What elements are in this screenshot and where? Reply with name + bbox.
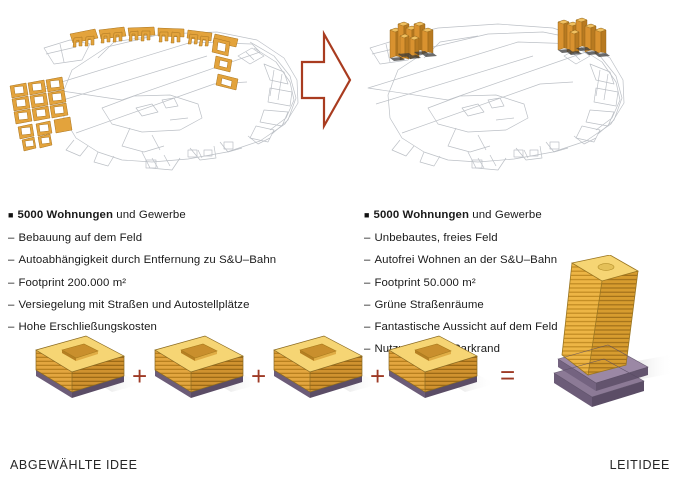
operator-plus-3: +	[370, 363, 385, 389]
slab-block-2	[155, 336, 261, 398]
bullet-marker-dash: –	[8, 231, 14, 245]
list-item: ■ 5000 Wohnungen und Gewerbe	[364, 208, 664, 223]
bullet-text: Bebauung auf dem Feld	[18, 231, 142, 245]
bullet-text: Versiegelung mit Straßen und Autostellpl…	[18, 298, 249, 312]
aerial-plan-left	[2, 0, 332, 195]
footer-label-left: ABGEWÄHLTE IDEE	[10, 458, 138, 472]
bullet-text: 5000 Wohnungen und Gewerbe	[374, 208, 542, 222]
presentation-slide: ■ 5000 Wohnungen und Gewerbe – Bebauung …	[0, 0, 680, 498]
operator-equals: =	[500, 362, 515, 388]
bullet-text: Footprint 50.000 m²	[374, 276, 475, 290]
list-item: ■ 5000 Wohnungen und Gewerbe	[8, 208, 328, 223]
tower-block-result	[548, 255, 680, 425]
bullet-marker-dash: –	[8, 298, 14, 312]
operator-plus-1: +	[132, 363, 147, 389]
list-item: – Versiegelung mit Straßen und Autostell…	[8, 298, 328, 312]
bullet-list-left: ■ 5000 Wohnungen und Gewerbe – Bebauung …	[8, 208, 328, 342]
slab-block-4	[389, 336, 495, 398]
bullet-text: Unbebautes, freies Feld	[374, 231, 497, 245]
list-item: – Footprint 200.000 m²	[8, 276, 328, 290]
bullet-text: Grüne Straßenräume	[374, 298, 483, 312]
bullet-marker-dash: –	[364, 298, 370, 312]
bullet-text: Autoabhängigkeit durch Entfernung zu S&U…	[18, 253, 276, 267]
bullet-marker-square: ■	[8, 208, 14, 223]
list-item: – Bebauung auf dem Feld	[8, 231, 328, 245]
bullet-text: Footprint 200.000 m²	[18, 276, 126, 290]
bullet-marker-square: ■	[364, 208, 370, 223]
slab-block-3	[274, 336, 380, 398]
list-item: – Autoabhängigkeit durch Entfernung zu S…	[8, 253, 328, 267]
bullet-text: 5000 Wohnungen und Gewerbe	[18, 208, 186, 222]
transform-arrow-right-icon	[296, 30, 356, 130]
aerial-plan-right	[348, 0, 678, 195]
bullet-marker-dash: –	[8, 253, 14, 267]
bullet-marker-dash: –	[8, 276, 14, 290]
bullet-text: Autofrei Wohnen an der S&U–Bahn	[374, 253, 557, 267]
bullet-marker-dash: –	[364, 253, 370, 267]
operator-plus-2: +	[251, 363, 266, 389]
footer-label-right: LEITIDEE	[610, 458, 670, 472]
list-item: – Unbebautes, freies Feld	[364, 231, 664, 245]
slab-block-1	[36, 336, 142, 398]
bullet-marker-dash: –	[364, 231, 370, 245]
bullet-marker-dash: –	[364, 276, 370, 290]
